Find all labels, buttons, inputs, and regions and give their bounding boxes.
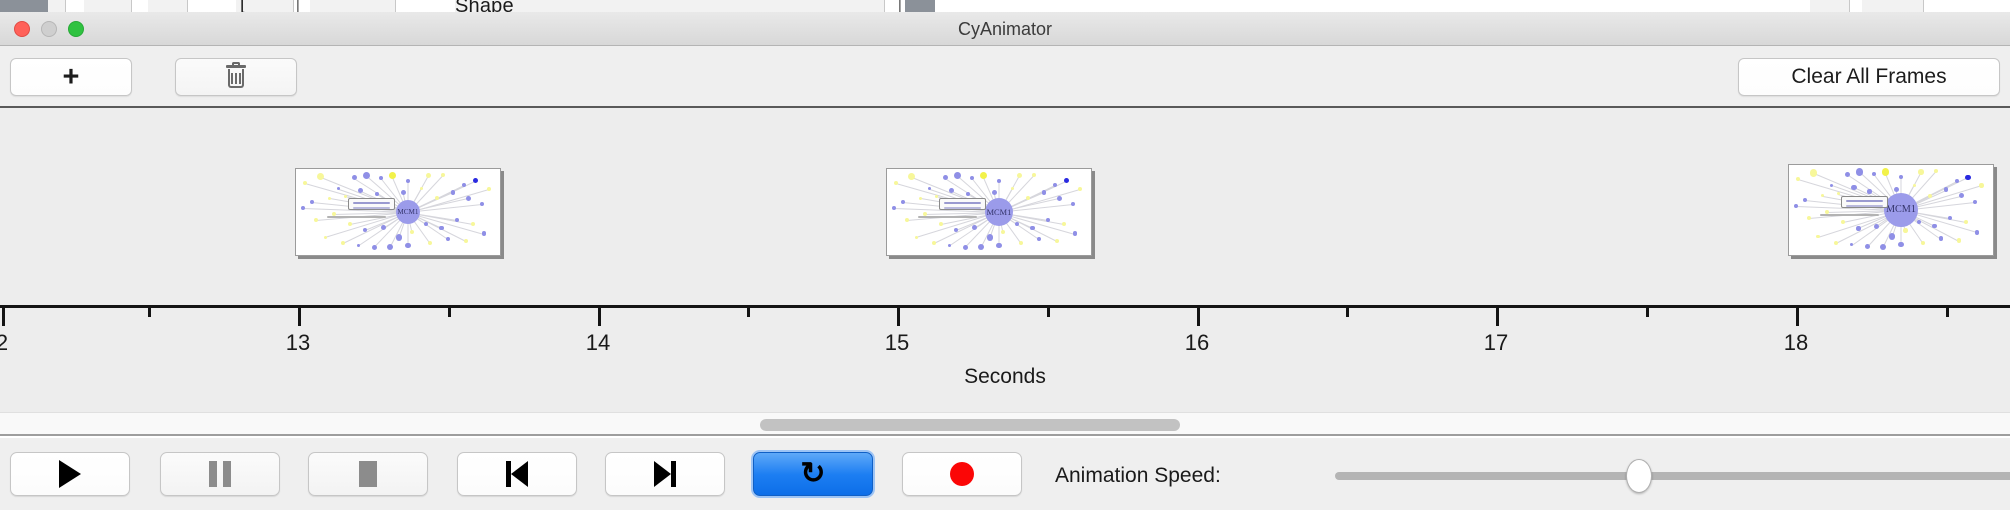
network-annotation (1820, 214, 1878, 216)
network-node (471, 222, 475, 226)
network-node (1913, 184, 1916, 187)
network-node (1944, 187, 1948, 191)
network-node (466, 196, 471, 201)
network-node (963, 245, 968, 250)
network-node (1078, 187, 1082, 191)
network-hub-node: MCM1 (396, 200, 420, 224)
axis-tick-major (1796, 307, 1799, 326)
network-node (1834, 241, 1838, 245)
network-node (1011, 187, 1014, 190)
timeline-panel[interactable]: MCM1MCM1MCM1 2131415161718 Seconds (0, 108, 2010, 412)
axis-tick-minor (1946, 307, 1949, 317)
network-node (1867, 189, 1871, 193)
network-node (372, 245, 377, 250)
time-axis: 2131415161718 Seconds (0, 305, 2010, 412)
network-node (1019, 241, 1023, 245)
network-node (1928, 194, 1932, 198)
network-node (1880, 244, 1886, 250)
network-node (932, 241, 936, 245)
network-node (1803, 198, 1807, 202)
network-node (1851, 185, 1856, 190)
network-node (1026, 196, 1030, 200)
network-node (341, 241, 345, 245)
loop-icon: ↻ (800, 459, 825, 489)
network-node (1882, 168, 1890, 176)
titlebar: CyAnimator (0, 12, 2010, 46)
play-button[interactable] (10, 452, 130, 496)
network-node (379, 176, 383, 180)
toolbar: + Clear All Frames (0, 46, 2010, 108)
axis-tick-label: 16 (1185, 330, 1209, 356)
network-node (317, 173, 324, 180)
network-node (919, 197, 922, 200)
playback-control-bar: ↻ Animation Speed: (0, 438, 2010, 510)
network-node (310, 200, 314, 204)
frame-thumbnail-1[interactable]: MCM1 (295, 168, 501, 256)
background-window-strip: [ | | Shape (0, 0, 2010, 12)
pause-icon (209, 461, 231, 487)
network-hub-node: MCM1 (1884, 193, 1918, 227)
network-node (410, 230, 414, 234)
network-node (939, 222, 943, 226)
network-node (935, 195, 938, 198)
network-node (1965, 175, 1970, 180)
network-node (901, 200, 905, 204)
network-node (401, 190, 406, 195)
network-tooltip (1841, 196, 1888, 208)
network-node (1934, 169, 1938, 173)
animation-speed-slider[interactable] (1335, 472, 2010, 480)
network-node (314, 218, 318, 222)
network-node (424, 222, 428, 226)
skip-to-end-button[interactable] (605, 452, 725, 496)
axis-title: Seconds (0, 365, 2010, 389)
network-node (1073, 231, 1077, 235)
slider-thumb[interactable] (1626, 459, 1652, 493)
network-node (1918, 169, 1923, 174)
axis-tick-major (1197, 307, 1200, 326)
axis-tick-major (598, 307, 601, 326)
network-node (451, 190, 455, 194)
slider-track (1335, 472, 2010, 480)
network-node (992, 190, 997, 195)
network-node (428, 241, 432, 245)
network-node (987, 234, 993, 240)
network-node (1964, 220, 1968, 224)
network-node (978, 244, 984, 250)
network-node (908, 173, 915, 180)
axis-tick-label: 14 (586, 330, 610, 356)
network-tooltip (939, 198, 986, 210)
axis-tick-label: 13 (286, 330, 310, 356)
network-node (894, 181, 898, 185)
network-node (396, 234, 402, 240)
network-node (446, 237, 450, 241)
clear-all-frames-label: Clear All Frames (1791, 65, 1946, 89)
skip-back-icon (506, 461, 528, 487)
network-node (1807, 216, 1811, 220)
network-node (348, 222, 352, 226)
network-node (980, 172, 987, 179)
network-node (328, 197, 331, 200)
network-node (1810, 169, 1818, 177)
network-node (1973, 200, 1977, 204)
stop-icon (359, 461, 377, 487)
network-node (301, 206, 305, 210)
network-node (357, 244, 360, 247)
skip-to-start-button[interactable] (457, 452, 577, 496)
cyanimator-window: [ | | Shape CyAnimator + Cle (0, 0, 2010, 510)
network-node (1816, 235, 1819, 238)
network-node (1959, 193, 1964, 198)
network-node (1030, 226, 1034, 230)
window-title: CyAnimator (0, 19, 2010, 40)
network-node (1001, 230, 1005, 234)
axis-tick-label: 18 (1784, 330, 1808, 356)
network-tooltip (348, 198, 395, 210)
network-node (487, 187, 491, 191)
axis-tick-minor (1646, 307, 1649, 317)
network-node (1979, 183, 1983, 187)
background-glyph-bar-1: | (296, 0, 300, 12)
network-node (1874, 224, 1879, 229)
network-node (1939, 236, 1943, 240)
axis-tick-label: 2 (0, 330, 8, 356)
network-node (464, 239, 468, 243)
network-annotation (327, 216, 385, 218)
network-node (905, 218, 909, 222)
network-node (381, 225, 386, 230)
record-icon (950, 462, 974, 486)
axis-tick-major (1496, 307, 1499, 326)
axis-tick-label: 15 (885, 330, 909, 356)
network-node (462, 183, 466, 187)
axis-tick-minor (1346, 307, 1349, 317)
stop-button (308, 452, 428, 496)
network-node (1841, 220, 1845, 224)
network-node (1903, 228, 1907, 232)
network-node (970, 176, 974, 180)
network-node (1032, 173, 1036, 177)
network-node (1894, 187, 1899, 192)
network-node (972, 225, 977, 230)
network-node (426, 173, 431, 178)
axis-tick-minor (148, 307, 151, 317)
network-node (1921, 241, 1925, 245)
network-node (435, 196, 439, 200)
axis-tick-major (298, 307, 301, 326)
network-node (1850, 243, 1853, 246)
animation-speed-label: Animation Speed: (1055, 464, 1221, 488)
timeline-scrollbar[interactable] (0, 412, 2010, 436)
network-node (1975, 230, 1979, 234)
timeline-scrollbar-thumb[interactable] (760, 419, 1180, 431)
plus-icon: + (63, 63, 80, 92)
network-node (480, 202, 484, 206)
axis-tick-minor (747, 307, 750, 317)
network-node (1015, 222, 1019, 226)
trash-icon (226, 65, 246, 89)
network-node (1856, 226, 1860, 230)
network-node (997, 179, 1001, 183)
network-node (482, 231, 486, 235)
network-node (473, 178, 478, 183)
pause-button (160, 452, 280, 496)
network-node (344, 195, 347, 198)
network-node (303, 181, 307, 185)
network-hub-node: MCM1 (985, 198, 1013, 226)
axis-tick-minor (1047, 307, 1050, 317)
record-button[interactable] (902, 452, 1022, 496)
network-node (439, 226, 443, 230)
network-node (406, 179, 410, 183)
network-node (1017, 173, 1022, 178)
network-node (324, 236, 327, 239)
network-node (915, 236, 918, 239)
add-frame-button[interactable]: + (10, 58, 132, 96)
frame-thumbnail-3[interactable]: MCM1 (1788, 164, 1994, 256)
clear-all-frames-button[interactable]: Clear All Frames (1738, 58, 2000, 96)
network-node (948, 244, 951, 247)
axis-tick-major (897, 307, 900, 326)
network-node (1071, 202, 1075, 206)
network-node (441, 173, 445, 177)
network-node (892, 206, 896, 210)
play-icon (59, 460, 81, 488)
axis-tick-major (2, 307, 5, 326)
network-node (1845, 172, 1850, 177)
axis-tick-minor (448, 307, 451, 317)
network-node (996, 243, 1001, 248)
frame-thumbnail-2[interactable]: MCM1 (886, 168, 1092, 256)
axis-line (0, 305, 2010, 308)
network-node (1042, 190, 1046, 194)
network-node (1898, 242, 1903, 247)
network-node (1062, 222, 1066, 226)
network-node (1899, 175, 1903, 179)
delete-frame-button[interactable] (175, 58, 297, 96)
network-node (1794, 204, 1798, 208)
network-node (1955, 179, 1959, 183)
network-node (1037, 237, 1041, 241)
network-node (1053, 183, 1057, 187)
background-window-label: Shape (455, 0, 514, 12)
network-node (405, 243, 410, 248)
network-node (1796, 177, 1800, 181)
network-node (1064, 178, 1069, 183)
network-node (387, 244, 393, 250)
axis-tick-label: 17 (1484, 330, 1508, 356)
network-node (1055, 239, 1059, 243)
background-glyph-bar-2: | (898, 0, 902, 12)
network-node (389, 172, 396, 179)
background-glyph-bracket: [ (240, 0, 246, 12)
network-node (1957, 238, 1961, 242)
network-node (420, 187, 423, 190)
network-node (1057, 196, 1062, 201)
network-annotation (918, 216, 976, 218)
network-node (1865, 244, 1870, 249)
network-node (1856, 168, 1864, 176)
frame-track[interactable]: MCM1MCM1MCM1 (0, 108, 2010, 305)
network-node (1889, 233, 1895, 239)
skip-forward-icon (654, 461, 676, 487)
network-node (1932, 224, 1936, 228)
loop-button[interactable]: ↻ (753, 452, 873, 496)
